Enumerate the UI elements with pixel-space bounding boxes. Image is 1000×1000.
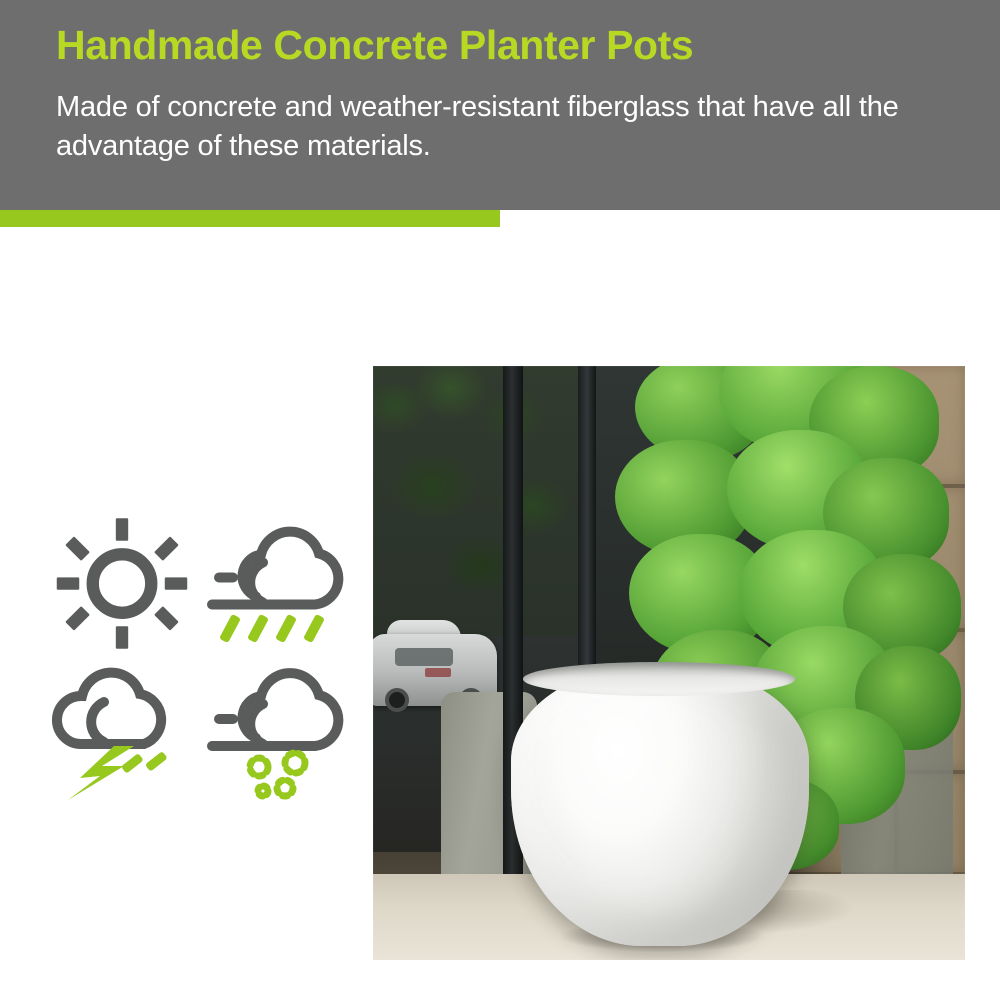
reflected-car-window <box>395 648 453 666</box>
product-photo <box>373 366 965 960</box>
page-title: Handmade Concrete Planter Pots <box>56 22 693 69</box>
cloud-snow-icon <box>207 666 347 801</box>
reflected-car-taillight <box>425 668 451 677</box>
white-planter-pot <box>511 666 809 946</box>
cloud-lightning-icon <box>52 666 192 801</box>
window-mullion <box>503 366 523 960</box>
page-subtitle: Made of concrete and weather-resistant f… <box>56 88 956 165</box>
feature-icon-snow <box>207 666 347 801</box>
accent-bar <box>0 210 500 227</box>
lightning-bolt <box>68 746 134 800</box>
feature-icon-grid <box>52 516 352 801</box>
feature-icon-lightning <box>52 666 192 801</box>
product-feature-page: Handmade Concrete Planter Pots Made of c… <box>0 0 1000 1000</box>
reflected-car-wheel <box>385 688 409 712</box>
header-banner: Handmade Concrete Planter Pots Made of c… <box>0 0 1000 210</box>
sun-icon <box>52 516 192 651</box>
feature-icon-rain <box>207 520 347 655</box>
feature-icon-sun <box>52 516 192 651</box>
pot-rim <box>523 662 795 696</box>
cloud-rain-icon <box>207 520 347 655</box>
